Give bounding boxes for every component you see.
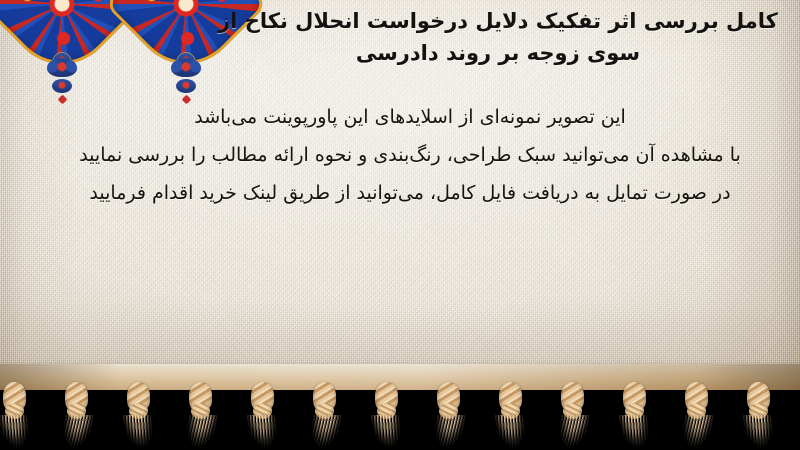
tassel xyxy=(0,382,38,448)
slide-body: این تصویر نمونه‌ای از اسلایدهای این پاور… xyxy=(60,108,760,222)
tassel-strands xyxy=(743,415,776,448)
tassel xyxy=(302,382,348,448)
tassel xyxy=(116,382,162,448)
tassel xyxy=(240,382,286,448)
tassel-strands xyxy=(495,415,528,448)
tassel-strands xyxy=(619,415,652,448)
medallion-pendant-icon xyxy=(171,58,201,103)
tassel xyxy=(426,382,472,448)
tassel xyxy=(612,382,658,448)
tassel xyxy=(364,382,410,448)
pendant-bud-small xyxy=(52,79,72,93)
tassel-strands xyxy=(0,415,31,448)
tassel xyxy=(736,382,782,448)
tassel-strands xyxy=(308,415,341,448)
tassel-strands xyxy=(371,415,404,448)
slide-canvas: کامل بررسی اثر تفکیک دلایل درخواست انحلا… xyxy=(0,0,800,450)
pendant-dot xyxy=(181,95,191,105)
persian-medallion-ornament-icon xyxy=(4,0,120,62)
tassel xyxy=(550,382,596,448)
pendant-dot xyxy=(57,95,67,105)
tassel-row xyxy=(0,382,800,450)
tassel xyxy=(54,382,100,448)
body-line-3: در صورت تمایل به دریافت فایل کامل، می‌تو… xyxy=(60,184,760,203)
tassel xyxy=(674,382,720,448)
body-line-2: با مشاهده آن می‌توانید سبک طراحی، رنگ‌بن… xyxy=(60,146,760,165)
pendant-bud xyxy=(171,58,201,77)
carpet-fringe-tassels xyxy=(0,364,800,450)
medallion-pendant-icon xyxy=(47,58,77,103)
tassel-strands xyxy=(556,415,589,448)
tassel-strands xyxy=(680,415,713,448)
pendant-bud xyxy=(47,58,77,77)
pendant-bud-small xyxy=(176,79,196,93)
tassel xyxy=(488,382,534,448)
tassel-strands xyxy=(432,415,465,448)
tassel xyxy=(178,382,224,448)
body-line-1: این تصویر نمونه‌ای از اسلایدهای این پاور… xyxy=(60,108,760,127)
tassel-strands xyxy=(123,415,156,448)
tassel-strands xyxy=(184,415,217,448)
tassel-strands xyxy=(60,415,93,448)
slide-title: کامل بررسی اثر تفکیک دلایل درخواست انحلا… xyxy=(208,6,788,70)
tassel-strands xyxy=(247,415,280,448)
